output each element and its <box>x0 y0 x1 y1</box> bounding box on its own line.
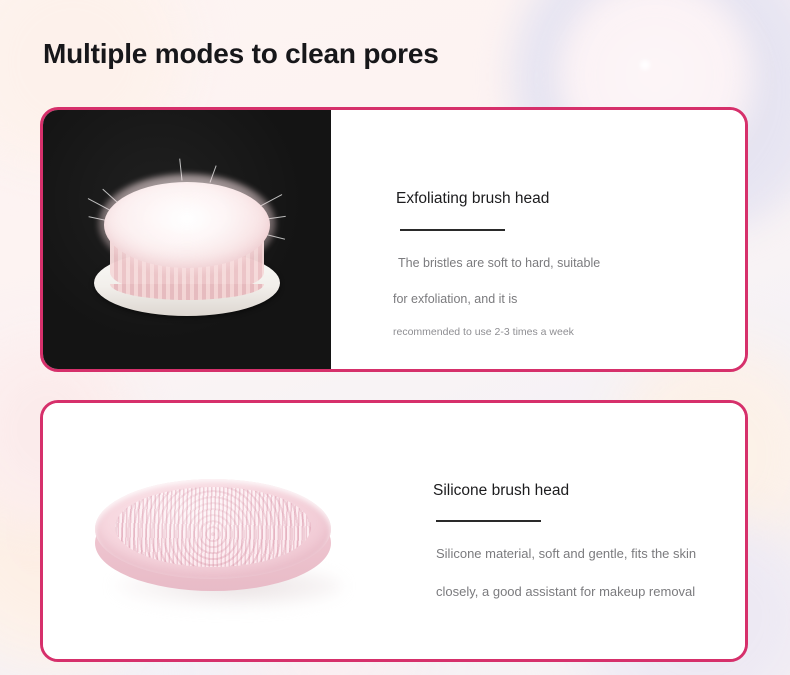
title-divider <box>400 229 505 231</box>
card-description-line: closely, a good assistant for makeup rem… <box>436 584 695 599</box>
bokeh-sparkle-dot <box>640 60 650 70</box>
promo-page: Multiple modes to clean pores Exfoliatin… <box>0 0 790 675</box>
exfoliating-brush-head-photo <box>43 110 331 369</box>
brush-base-plate <box>94 250 280 316</box>
bristle-brush-illustration <box>82 170 292 320</box>
brush-bristle-top <box>104 182 270 268</box>
title-divider <box>436 520 541 522</box>
card-description-line: for exfoliation, and it is <box>393 292 517 306</box>
silicone-brush-head-photo <box>43 403 383 659</box>
exfoliating-card-text: Exfoliating brush head The bristles are … <box>331 110 745 369</box>
silicone-card-text: Silicone brush head Silicone material, s… <box>383 403 745 659</box>
brush-fuzz-overlay <box>98 174 276 274</box>
card-description-line: recommended to use 2-3 times a week <box>393 326 574 338</box>
card-title-silicone: Silicone brush head <box>433 482 569 500</box>
page-title: Multiple modes to clean pores <box>43 38 439 70</box>
feature-card-silicone: Silicone brush head Silicone material, s… <box>40 400 748 662</box>
card-description-line: Silicone material, soft and gentle, fits… <box>436 546 696 561</box>
card-title-exfoliating: Exfoliating brush head <box>396 190 549 208</box>
brush-bristle-side <box>110 230 264 294</box>
silicone-rim-highlight <box>95 479 331 579</box>
card-description-line: The bristles are soft to hard, suitable <box>398 256 600 270</box>
feature-card-exfoliating: Exfoliating brush head The bristles are … <box>40 107 748 372</box>
silicone-brush-illustration <box>79 461 347 611</box>
